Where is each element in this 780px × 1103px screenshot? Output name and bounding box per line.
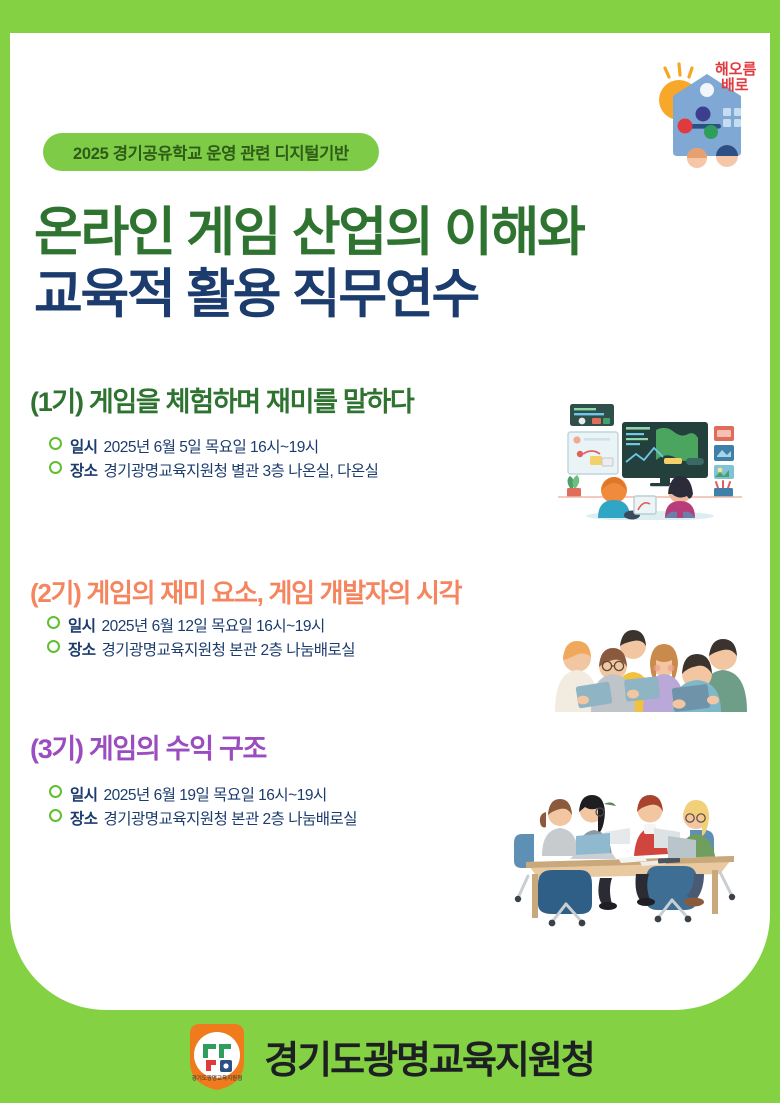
ring-bullet-icon <box>47 616 60 629</box>
ring-bullet-icon <box>49 461 62 474</box>
session-3: (3기) 게임의 수익 구조 일시 2025년 6월 19일 목요일 16시~1… <box>30 733 357 832</box>
info-label: 장소 <box>70 460 98 484</box>
list-item: 장소 경기광명교육지원청 별관 3층 나온실, 다온실 <box>49 460 413 484</box>
info-value: 경기광명교육지원청 본관 2층 나눔배로실 <box>104 808 357 832</box>
poster-root: 해오름 배로 2025 경기공유학교 운영 관련 디지털기반 온라인 게임 산업… <box>0 0 780 1103</box>
illustration-dashboard-viewers <box>552 396 748 520</box>
list-item: 일시 2025년 6월 5일 목요일 16시~19시 <box>49 436 413 460</box>
title-line-1: 온라인 게임 산업의 이해와 <box>34 202 734 264</box>
ring-bullet-icon <box>49 437 62 450</box>
info-label: 장소 <box>70 808 98 832</box>
session-2-info-list: 일시 2025년 6월 12일 목요일 16시~19시 장소 경기광명교육지원청… <box>47 615 461 663</box>
session-2: (2기) 게임의 재미 요소, 게임 개발자의 시각 일시 2025년 6월 1… <box>30 578 461 663</box>
info-value: 2025년 6월 19일 목요일 16시~19시 <box>104 784 327 808</box>
session-1-title: (1기) 게임을 체험하며 재미를 말하다 <box>30 386 413 418</box>
goe-emblem-icon: 경기도광명교육지원청 <box>186 1022 248 1092</box>
info-value: 경기광명교육지원청 본관 2층 나눔배로실 <box>102 639 355 663</box>
gongyu-school-logo: 해오름 배로 <box>655 52 759 170</box>
info-value: 2025년 6월 5일 목요일 16시~19시 <box>104 436 319 460</box>
info-value: 2025년 6월 12일 목요일 16시~19시 <box>102 615 325 639</box>
illustration-table-meeting <box>508 778 752 930</box>
svg-text:배로: 배로 <box>721 77 749 94</box>
footer-bar: 경기도광명교육지원청 경기도광명교육지원청 <box>0 1010 780 1103</box>
illustration-group-with-tablets <box>547 612 753 716</box>
info-label: 장소 <box>68 639 96 663</box>
ring-bullet-icon <box>49 785 62 798</box>
svg-text:경기도광명교육지원청: 경기도광명교육지원청 <box>192 1074 243 1082</box>
svg-text:해오름: 해오름 <box>715 61 757 78</box>
session-3-title: (3기) 게임의 수익 구조 <box>30 733 357 765</box>
session-1: (1기) 게임을 체험하며 재미를 말하다 일시 2025년 6월 5일 목요일… <box>30 386 413 484</box>
footer-organization-name: 경기도광명교육지원청 <box>264 1029 594 1084</box>
list-item: 장소 경기광명교육지원청 본관 2층 나눔배로실 <box>47 639 461 663</box>
info-value: 경기광명교육지원청 별관 3층 나온실, 다온실 <box>104 460 379 484</box>
ring-bullet-icon <box>47 640 60 653</box>
info-label: 일시 <box>70 784 98 808</box>
ring-bullet-icon <box>49 809 62 822</box>
info-label: 일시 <box>68 615 96 639</box>
info-label: 일시 <box>70 436 98 460</box>
title-line-2: 교육적 활용 직무연수 <box>34 264 734 326</box>
session-2-title: (2기) 게임의 재미 요소, 게임 개발자의 시각 <box>30 578 461 609</box>
list-item: 장소 경기광명교육지원청 본관 2층 나눔배로실 <box>49 808 357 832</box>
list-item: 일시 2025년 6월 12일 목요일 16시~19시 <box>47 615 461 639</box>
session-1-info-list: 일시 2025년 6월 5일 목요일 16시~19시 장소 경기광명교육지원청 … <box>49 436 413 484</box>
session-3-info-list: 일시 2025년 6월 19일 목요일 16시~19시 장소 경기광명교육지원청… <box>49 784 357 832</box>
list-item: 일시 2025년 6월 19일 목요일 16시~19시 <box>49 784 357 808</box>
program-badge: 2025 경기공유학교 운영 관련 디지털기반 <box>43 133 379 171</box>
poster-title: 온라인 게임 산업의 이해와 교육적 활용 직무연수 <box>34 202 734 326</box>
